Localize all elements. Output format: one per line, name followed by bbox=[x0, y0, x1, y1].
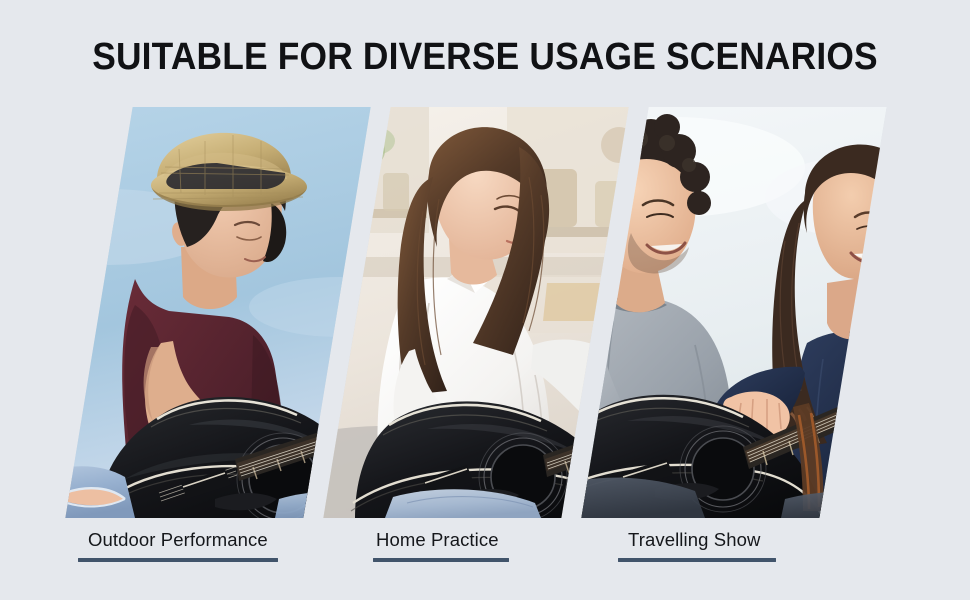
caption-home-practice: Home Practice bbox=[373, 528, 509, 568]
outdoor-performance-illustration bbox=[65, 107, 370, 518]
caption-label-home-practice: Home Practice bbox=[373, 528, 509, 552]
photo-home-practice bbox=[323, 107, 628, 518]
home-practice-illustration bbox=[323, 107, 628, 518]
caption-underline-outdoor-performance bbox=[78, 558, 278, 562]
photo-outdoor-performance bbox=[65, 107, 370, 518]
caption-label-outdoor-performance: Outdoor Performance bbox=[78, 528, 278, 552]
travelling-show-illustration bbox=[581, 107, 886, 518]
scenario-image-outdoor-performance[interactable] bbox=[65, 107, 370, 518]
photo-travelling-show bbox=[581, 107, 886, 518]
caption-label-travelling-show: Travelling Show bbox=[618, 528, 776, 552]
caption-underline-travelling-show bbox=[618, 558, 776, 562]
scenario-image-home-practice[interactable] bbox=[323, 107, 628, 518]
caption-outdoor-performance: Outdoor Performance bbox=[78, 528, 278, 568]
caption-underline-home-practice bbox=[373, 558, 509, 562]
scenario-banner: SUITABLE FOR DIVERSE USAGE SCENARIOS bbox=[0, 0, 970, 600]
panel-group bbox=[0, 0, 970, 600]
caption-travelling-show: Travelling Show bbox=[618, 528, 776, 568]
scenario-image-travelling-show[interactable] bbox=[581, 107, 886, 518]
